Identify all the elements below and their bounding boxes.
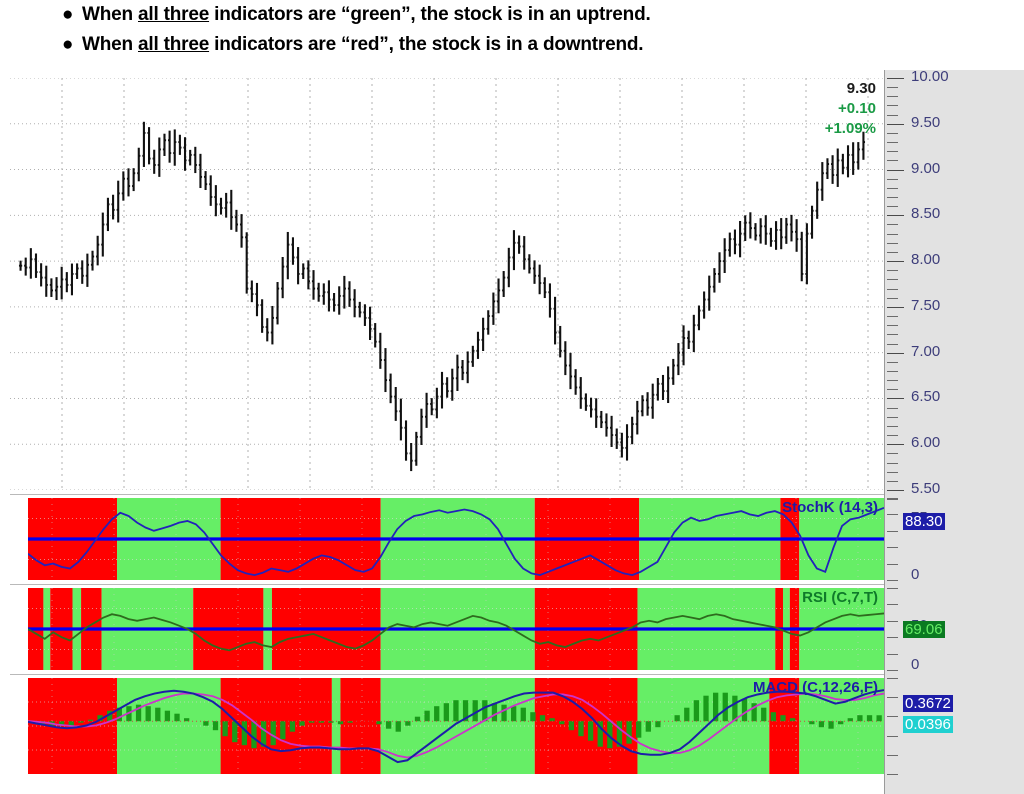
bullet-0-suffix: indicators are “green”, the stock is in … xyxy=(209,4,650,25)
price-axis-tick xyxy=(887,490,904,491)
price-axis-minor-tick xyxy=(887,105,898,106)
price-axis-minor-tick xyxy=(887,115,898,116)
price-axis-minor-tick xyxy=(887,279,898,280)
price-axis-minor-tick xyxy=(887,160,898,161)
price-axis-minor-tick xyxy=(887,408,898,409)
indicator-axis-label: 0 xyxy=(911,566,919,583)
indicator-axis-tick xyxy=(887,697,898,698)
indicator-axis-tick xyxy=(887,588,898,589)
quote-last-price: 9.30 xyxy=(847,80,876,97)
price-axis-minor-tick xyxy=(887,325,898,326)
price-axis-tick xyxy=(887,170,904,171)
price-axis-minor-tick xyxy=(887,252,898,253)
price-pane[interactable]: 9.30 +0.10 +1.09% xyxy=(10,78,884,490)
price-axis-tick xyxy=(887,215,904,216)
rsi-pane[interactable]: RSI (C,7,T) xyxy=(28,588,884,670)
quote-change-percent: +1.09% xyxy=(825,120,876,137)
pane-divider xyxy=(10,494,884,495)
price-axis-minor-tick xyxy=(887,389,898,390)
indicator-axis-tick xyxy=(887,514,898,515)
macd-value-badge: 0.3672 xyxy=(903,695,953,712)
price-axis-minor-tick xyxy=(887,289,898,290)
indicator-axis-tick xyxy=(887,678,898,679)
indicator-axis-tick xyxy=(887,580,898,581)
price-axis-minor-tick xyxy=(887,298,898,299)
price-axis-minor-tick xyxy=(887,426,898,427)
price-axis-minor-tick xyxy=(887,316,898,317)
rsi-chart-svg xyxy=(28,588,884,670)
indicator-axis-tick xyxy=(887,547,898,548)
price-axis-label: 8.00 xyxy=(911,251,940,268)
price-axis-minor-tick xyxy=(887,224,898,225)
indicator-axis-tick xyxy=(887,736,898,737)
price-axis-minor-tick xyxy=(887,417,898,418)
indicator-axis-tick xyxy=(887,716,898,717)
price-axis-minor-tick xyxy=(887,453,898,454)
price-axis-tick xyxy=(887,124,904,125)
indicator-axis-tick xyxy=(887,755,898,756)
macd-title: MACD (C,12,26,F) xyxy=(753,679,878,696)
pane-divider xyxy=(10,674,884,675)
bullet-0-emphasis: all three xyxy=(138,4,209,25)
price-axis-minor-tick xyxy=(887,197,898,198)
quote-change: +0.10 xyxy=(838,100,876,117)
bullet-item-uptrend: ●When all three indicators are “green”, … xyxy=(62,4,651,26)
indicator-axis-tick xyxy=(887,564,898,565)
bullet-text-header: ●When all three indicators are “green”, … xyxy=(0,0,1024,70)
price-axis-minor-tick xyxy=(887,188,898,189)
rsi-title: RSI (C,7,T) xyxy=(802,589,878,606)
price-axis-tick xyxy=(887,353,904,354)
price-axis-minor-tick xyxy=(887,270,898,271)
price-axis-minor-tick xyxy=(887,96,898,97)
bullet-1-suffix: indicators are “red”, the stock is in a … xyxy=(209,34,643,55)
price-axis-minor-tick xyxy=(887,334,898,335)
price-axis-tick xyxy=(887,444,904,445)
price-axis-tick xyxy=(887,307,904,308)
price-axis-minor-tick xyxy=(887,87,898,88)
stochastic-chart-svg xyxy=(28,498,884,580)
price-axis-minor-tick xyxy=(887,472,898,473)
price-scale-gutter[interactable]: 10.009.509.008.508.007.507.006.506.005.5… xyxy=(884,70,1024,794)
price-axis-tick xyxy=(887,261,904,262)
price-axis-minor-tick xyxy=(887,344,898,345)
stock-chart-slide: ●When all three indicators are “green”, … xyxy=(0,0,1024,794)
price-axis-minor-tick xyxy=(887,179,898,180)
indicator-axis-tick xyxy=(887,531,898,532)
indicator-axis-tick xyxy=(887,654,898,655)
chart-container[interactable]: 9.30 +0.10 +1.09% StochK (14,3) RSI (C,7… xyxy=(0,70,1024,794)
pane-divider xyxy=(10,584,884,585)
price-axis-minor-tick xyxy=(887,243,898,244)
price-axis-label: 6.00 xyxy=(911,434,940,451)
indicator-axis-tick xyxy=(887,670,898,671)
price-axis-minor-tick xyxy=(887,151,898,152)
price-axis-tick xyxy=(887,398,904,399)
indicator-axis-tick xyxy=(887,774,898,775)
stochastic-title: StochK (14,3) xyxy=(782,499,878,516)
stoch-value-badge: 88.30 xyxy=(903,513,945,530)
price-axis-minor-tick xyxy=(887,362,898,363)
price-axis-label: 6.50 xyxy=(911,388,940,405)
stochastic-pane[interactable]: StochK (14,3) xyxy=(28,498,884,580)
price-axis-label: 10.00 xyxy=(911,68,949,85)
bullet-dot-icon: ● xyxy=(62,35,82,54)
price-axis-tick xyxy=(887,78,904,79)
price-axis-minor-tick xyxy=(887,206,898,207)
price-axis-minor-tick xyxy=(887,463,898,464)
price-axis-minor-tick xyxy=(887,380,898,381)
macd-pane[interactable]: MACD (C,12,26,F) xyxy=(28,678,884,774)
price-axis-minor-tick xyxy=(887,133,898,134)
price-axis-minor-tick xyxy=(887,371,898,372)
price-axis-label: 7.50 xyxy=(911,297,940,314)
rsi-value-badge: 69.06 xyxy=(903,621,945,638)
bullet-1-emphasis: all three xyxy=(138,34,209,55)
bullet-1-prefix: When xyxy=(82,34,138,55)
price-axis-label: 9.50 xyxy=(911,114,940,131)
bullet-dot-icon: ● xyxy=(62,5,82,24)
macd-signal-value-badge: 0.0396 xyxy=(903,716,953,733)
price-axis-minor-tick xyxy=(887,142,898,143)
indicator-axis-tick xyxy=(887,604,898,605)
price-axis-label: 5.50 xyxy=(911,480,940,497)
price-axis-minor-tick xyxy=(887,435,898,436)
indicator-axis-tick xyxy=(887,498,898,499)
price-axis-label: 9.00 xyxy=(911,160,940,177)
indicator-axis-tick xyxy=(887,621,898,622)
price-axis-minor-tick xyxy=(887,481,898,482)
price-axis-minor-tick xyxy=(887,499,898,500)
price-axis-minor-tick xyxy=(887,234,898,235)
bullet-item-downtrend: ●When all three indicators are “red”, th… xyxy=(62,34,643,56)
indicator-axis-tick xyxy=(887,637,898,638)
price-axis-label: 7.00 xyxy=(911,343,940,360)
indicator-axis-label: 0 xyxy=(911,656,919,673)
price-chart-svg xyxy=(10,78,884,490)
price-axis-label: 8.50 xyxy=(911,205,940,222)
bullet-0-prefix: When xyxy=(82,4,138,25)
